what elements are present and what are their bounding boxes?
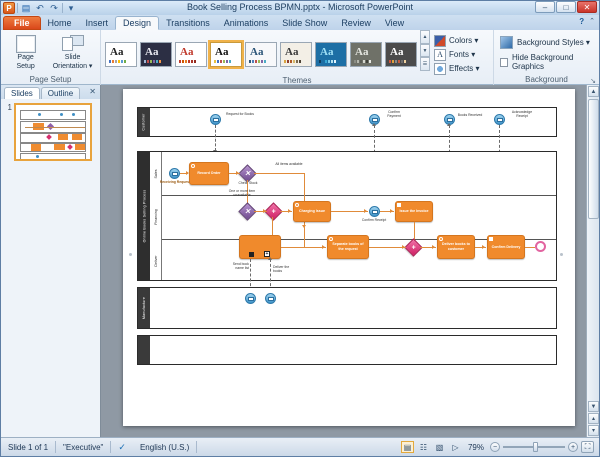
task-icon-record-order: [191, 164, 195, 168]
slide-pane: Slides Outline ✕ 1: [1, 85, 101, 437]
task-icon-confirm-delivery: [489, 237, 493, 241]
group-themes: AaAaAaAaAaAaAaAaAa ▲ ▼ ☰ Colors ▾ A Font…: [101, 30, 494, 85]
bottom-pool[interactable]: [137, 335, 557, 365]
colors-icon: [434, 35, 446, 47]
manufacture-pool-label: Manufacture: [138, 288, 150, 328]
message-flow-request: [215, 125, 216, 151]
theme-executive-swatches: [249, 60, 266, 63]
theme-colors-button[interactable]: Colors ▾: [434, 34, 480, 47]
theme-executive-preview-text: Aa: [250, 46, 263, 58]
theme-apex-preview-text: Aa: [215, 46, 228, 58]
slide-orientation-button[interactable]: Slide Orientation ▾: [49, 33, 96, 71]
spell-check-icon[interactable]: ✓: [111, 440, 133, 454]
tab-transitions[interactable]: Transitions: [159, 16, 217, 30]
lane-financing[interactable]: Financing: [150, 195, 161, 239]
tab-insert[interactable]: Insert: [79, 16, 116, 30]
background-styles-icon: [500, 36, 513, 49]
group-label-page-setup: Page Setup: [1, 74, 100, 85]
label-books-received: Books Received: [457, 113, 483, 117]
zoom-out-button[interactable]: −: [490, 442, 500, 452]
themes-more-icon[interactable]: ☰: [420, 57, 430, 71]
theme-civic-preview-text: Aa: [390, 46, 403, 58]
group-label-background: Background: [494, 74, 599, 85]
theme-adjacency-swatches: [144, 60, 161, 63]
theme-default[interactable]: Aa: [105, 42, 137, 67]
tab-file[interactable]: File: [3, 16, 41, 30]
theme-default-preview-text: Aa: [110, 46, 123, 58]
event-acknowledge-receipt[interactable]: [494, 114, 505, 125]
task-charging-issue[interactable]: Charging Issue: [293, 201, 331, 222]
group-page-setup: Page Setup Slide Orientation ▾ Page Setu…: [1, 30, 101, 85]
scroll-up-button[interactable]: ▲: [588, 86, 599, 97]
event-manufacture-receive[interactable]: [245, 293, 256, 304]
themes-scroller[interactable]: ▲ ▼ ☰: [420, 30, 430, 71]
theme-aspect-preview-text: Aa: [285, 46, 298, 58]
slide-pane-tabs[interactable]: Slides Outline ✕: [1, 85, 100, 99]
close-button[interactable]: ✕: [577, 1, 597, 13]
theme-austin[interactable]: Aa: [315, 42, 347, 67]
theme-effects-label: Effects ▾: [449, 64, 480, 73]
tab-slide-show[interactable]: Slide Show: [275, 16, 334, 30]
theme-fonts-button[interactable]: A Fonts ▾: [434, 48, 480, 61]
slide-indicator[interactable]: Slide 1 of 1: [1, 440, 55, 454]
page-setup-label-1: Page: [17, 54, 33, 62]
event-end[interactable]: [535, 241, 546, 252]
view-slide-sorter-button[interactable]: ☷: [417, 441, 430, 453]
event-confirm-receipt[interactable]: [369, 206, 380, 217]
lane-sales[interactable]: Sales: [150, 152, 161, 195]
theme-aspect[interactable]: Aa: [280, 42, 312, 67]
theme-angles-swatches: [179, 60, 196, 63]
theme-angles-preview-text: Aa: [180, 46, 193, 58]
theme-apex-swatches: [214, 60, 231, 63]
slide-orientation-label-1: Slide: [65, 54, 81, 62]
theme-austin-swatches: [319, 60, 336, 63]
ribbon-collapse-icon[interactable]: ⌃: [589, 17, 595, 26]
fonts-icon: A: [434, 49, 446, 61]
zoom-slider[interactable]: [503, 441, 565, 453]
slide-thumbnail-content: [20, 110, 86, 154]
tab-design[interactable]: Design: [115, 16, 159, 30]
theme-black-tie[interactable]: Aa: [350, 42, 382, 67]
title-bar: P ▤ ↶ ↷ ▾ Book Selling Process BPMN.pptx…: [1, 1, 599, 15]
label-all-items-available: All items available: [272, 162, 306, 166]
slide-thumbnail[interactable]: [14, 103, 92, 161]
label-confirm-payment: Confirm Payment: [382, 110, 406, 118]
theme-fonts-label: Fonts ▾: [449, 50, 475, 59]
theme-executive[interactable]: Aa: [245, 42, 277, 67]
task-icon-issue-invoice: [397, 203, 401, 207]
powerpoint-window: P ▤ ↶ ↷ ▾ Book Selling Process BPMN.pptx…: [0, 0, 600, 457]
slide-orientation-icon: [62, 35, 84, 53]
tab-animations[interactable]: Animations: [217, 16, 276, 30]
event-receiving-request[interactable]: [169, 168, 180, 179]
task-confirm-delivery[interactable]: Confirm Delivery: [487, 235, 525, 259]
background-styles-button[interactable]: Background Styles ▾: [500, 36, 593, 49]
zoom-in-button[interactable]: +: [568, 442, 578, 452]
task-deliver-books[interactable]: Deliver books to customer: [437, 235, 475, 259]
slide-surface[interactable]: Customer Request for Books Confirm Payme…: [123, 89, 575, 426]
bpmn-diagram[interactable]: Customer Request for Books Confirm Payme…: [137, 107, 557, 392]
label-confirm-receipt: Confirm Receipt: [358, 218, 390, 222]
theme-adjacency[interactable]: Aa: [140, 42, 172, 67]
help-icon[interactable]: ?: [579, 17, 584, 26]
theme-adjacency-preview-text: Aa: [145, 46, 158, 58]
theme-austin-preview-text: Aa: [320, 46, 333, 58]
view-reading-button[interactable]: ▧: [433, 441, 446, 453]
theme-black-tie-preview-text: Aa: [355, 46, 368, 58]
view-normal-button[interactable]: ▤: [401, 441, 414, 453]
hide-background-graphics-checkbox[interactable]: Hide Background Graphics: [500, 53, 593, 71]
lane-deliver[interactable]: Deliver: [150, 239, 161, 282]
themes-scroll-up-icon[interactable]: ▲: [420, 30, 430, 44]
slide-orientation-label-2: Orientation ▾: [53, 63, 93, 71]
themes-gallery[interactable]: AaAaAaAaAaAaAaAaAa: [101, 30, 419, 75]
task-issue-the-invoice[interactable]: Issue the Invoice: [395, 201, 433, 222]
task-icon-deliver-books: [439, 237, 443, 241]
hide-background-graphics-label: Hide Background Graphics: [512, 53, 593, 71]
message-arrow-books-received: [447, 123, 451, 126]
ribbon-tabs[interactable]: File Home Insert Design Transitions Anim…: [1, 15, 599, 30]
theme-apex[interactable]: Aa: [210, 42, 242, 67]
theme-aspect-swatches: [284, 60, 301, 63]
tab-review[interactable]: Review: [334, 16, 378, 30]
zoom-level-label[interactable]: 79%: [465, 443, 487, 452]
minimize-button[interactable]: –: [535, 1, 555, 13]
slide-canvas[interactable]: Customer Request for Books Confirm Payme…: [101, 85, 599, 437]
tab-slides[interactable]: Slides: [4, 87, 40, 99]
group-background: Background Styles ▾ Hide Background Grap…: [494, 30, 599, 85]
theme-effects-button[interactable]: Effects ▾: [434, 62, 480, 75]
task-icon-separate-books: [329, 237, 333, 241]
main-area: Slides Outline ✕ 1: [1, 85, 599, 437]
message-arrow-payment: [372, 123, 376, 126]
tab-view[interactable]: View: [378, 16, 411, 30]
bottom-pool-label: [138, 336, 150, 364]
label-send-book-name-list: Send book name list: [229, 262, 249, 270]
main-pool-label: Online Books Selling Process: [138, 152, 150, 280]
event-manufacture-deliver[interactable]: [265, 293, 276, 304]
theme-colors-label: Colors ▾: [449, 36, 478, 45]
theme-angles[interactable]: Aa: [175, 42, 207, 67]
slide-number: 1: [4, 103, 12, 112]
canvas-vertical-scrollbar[interactable]: ▲ ▼ ▴ ▾: [586, 85, 599, 437]
restore-button[interactable]: □: [556, 1, 576, 13]
task-separate-books[interactable]: Separate books of the request: [327, 235, 369, 259]
fit-slide-button[interactable]: ⛶: [581, 441, 594, 453]
checkbox-icon[interactable]: [500, 58, 508, 67]
scroll-thumb[interactable]: [588, 99, 599, 219]
theme-black-tie-swatches: [354, 60, 371, 63]
slide-pane-body: 1: [1, 99, 100, 437]
task-record-order[interactable]: Record Order: [189, 162, 229, 185]
themes-scroll-down-icon[interactable]: ▼: [420, 44, 430, 58]
status-bar: Slide 1 of 1 "Executive" ✓ English (U.S.…: [1, 437, 599, 456]
tab-outline[interactable]: Outline: [41, 87, 80, 99]
theme-civic-swatches: [389, 60, 406, 63]
language-indicator[interactable]: English (U.S.): [133, 440, 196, 454]
view-slideshow-button[interactable]: ▷: [449, 441, 462, 453]
task-subprocess[interactable]: +: [239, 235, 281, 259]
close-pane-icon[interactable]: ✕: [89, 87, 96, 96]
status-right-controls[interactable]: ▤ ☷ ▧ ▷ 79% − + ⛶: [401, 441, 599, 453]
effects-icon: [434, 63, 446, 75]
label-check-stock: Check Stock: [235, 181, 261, 185]
ribbon: Page Setup Slide Orientation ▾ Page Setu…: [1, 30, 599, 85]
label-receiving-request: Receiving Request: [159, 180, 191, 184]
page-setup-label-2: Setup: [16, 63, 34, 71]
window-controls[interactable]: – □ ✕: [535, 1, 597, 13]
event-request-for-books[interactable]: [210, 114, 221, 125]
page-setup-button[interactable]: Page Setup: [5, 33, 46, 71]
customer-pool-label: Customer: [138, 108, 150, 136]
label-request-for-books: Request for Books: [224, 112, 256, 116]
label-acknowledge-receipt: Acknowledge Receipt: [507, 110, 537, 118]
task-icon-charging-issue: [295, 203, 299, 207]
page-setup-icon: [16, 35, 36, 53]
slide-thumbnail-item[interactable]: 1: [4, 103, 97, 161]
label-deliver-the-books: Deliver the books: [273, 265, 299, 273]
label-items-unavailable: One or more item unavailable: [227, 189, 257, 197]
manufacture-pool[interactable]: Manufacture: [137, 287, 557, 329]
background-dialog-launcher[interactable]: ↘: [590, 77, 596, 85]
theme-default-swatches: [109, 60, 126, 63]
theme-name[interactable]: "Executive": [56, 440, 110, 454]
scroll-down-button[interactable]: ▼: [588, 401, 599, 412]
previous-slide-button[interactable]: ▴: [588, 413, 599, 424]
background-styles-label: Background Styles ▾: [517, 38, 590, 47]
zoom-slider-knob[interactable]: [533, 442, 538, 452]
tab-home[interactable]: Home: [41, 16, 79, 30]
window-title: Book Selling Process BPMN.pptx - Microso…: [1, 2, 599, 12]
theme-civic[interactable]: Aa: [385, 42, 417, 67]
next-slide-button[interactable]: ▾: [588, 425, 599, 436]
theme-variants: Colors ▾ A Fonts ▾ Effects ▾: [430, 30, 484, 75]
